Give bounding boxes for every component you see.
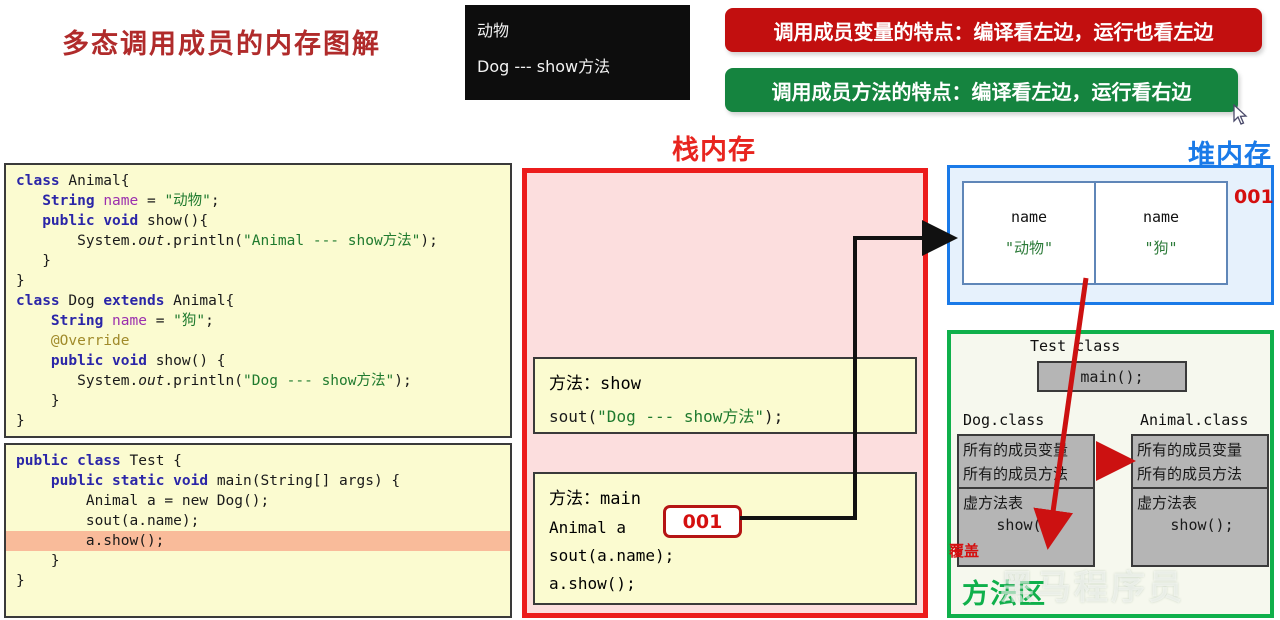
test-class-main-method: main(); xyxy=(1037,361,1187,392)
heap-field-value: "动物" xyxy=(1005,237,1053,258)
code-line: String name = "动物"; xyxy=(6,191,510,211)
page-title: 多态调用成员的内存图解 xyxy=(62,22,381,61)
animal-class-row: 所有的成员方法 xyxy=(1133,460,1267,484)
console-line-1: 动物 xyxy=(477,17,690,41)
code-line: class Dog extends Animal{ xyxy=(6,291,510,311)
dog-class-vtable-method: show(); xyxy=(959,513,1093,534)
code-line: public void show(){ xyxy=(6,211,510,231)
code-line: System.out.println("Animal --- show方法"); xyxy=(6,231,510,251)
stack-frame-show: 方法：show sout("Dog --- show方法"); xyxy=(533,357,917,434)
override-annotation: 覆盖 xyxy=(949,540,979,561)
stack-memory-heading: 栈内存 xyxy=(672,128,756,167)
console-output-panel: 动物 Dog --- show方法 xyxy=(465,5,690,100)
banner-member-method-rule: 调用成员方法的特点：编译看左边，运行看右边 xyxy=(725,68,1238,112)
code-line: public void show() { xyxy=(6,351,510,371)
stack-frame-show-title: 方法：show xyxy=(549,369,915,394)
test-class-title: Test class xyxy=(1030,337,1120,355)
mouse-cursor xyxy=(1233,104,1249,126)
code-line: sout(a.name); xyxy=(6,511,510,531)
dog-class-vtable-label: 虚方法表 xyxy=(959,487,1093,513)
animal-class-title: Animal.class xyxy=(1140,411,1248,429)
animal-class-box: 所有的成员变量 所有的成员方法 虚方法表 show(); xyxy=(1131,434,1269,567)
heap-field-name-label: name xyxy=(1011,208,1047,226)
code-line: class Animal{ xyxy=(6,171,510,191)
code-line: @Override xyxy=(6,331,510,351)
stack-frame-main: 方法：main Animal a sout(a.name); a.show(); xyxy=(533,472,917,605)
code-line: } xyxy=(6,271,510,291)
dog-class-row: 所有的成员方法 xyxy=(959,460,1093,484)
code-line: Animal a = new Dog(); xyxy=(6,491,510,511)
animal-class-vtable-label: 虚方法表 xyxy=(1133,487,1267,513)
heap-object: name "动物" name "狗" xyxy=(962,181,1228,285)
console-line-2: Dog --- show方法 xyxy=(477,53,690,77)
stack-frame-show-body: sout("Dog --- show方法"); xyxy=(549,403,915,427)
code-line: } xyxy=(6,571,510,591)
code-line: String name = "狗"; xyxy=(6,311,510,331)
code-line: } xyxy=(6,391,510,411)
banner-member-variable-rule: 调用成员变量的特点：编译看左边，运行也看左边 xyxy=(725,8,1262,52)
watermark: 黑马程序员 xyxy=(1000,560,1185,609)
animal-class-row: 所有的成员变量 xyxy=(1133,436,1267,460)
code-line-highlighted: a.show(); xyxy=(6,531,510,551)
stack-frame-main-line3: a.show(); xyxy=(549,574,915,593)
dog-class-row: 所有的成员变量 xyxy=(959,436,1093,460)
dog-class-title: Dog.class xyxy=(963,411,1044,429)
heap-field-value: "狗" xyxy=(1144,237,1177,258)
code-line: System.out.println("Dog --- show方法"); xyxy=(6,371,510,391)
heap-field-name-label: name xyxy=(1143,208,1179,226)
stack-address-badge: 001 xyxy=(663,505,742,538)
code-line: } xyxy=(6,411,510,431)
heap-address-label: 001 xyxy=(1234,186,1274,208)
code-line: public class Test { xyxy=(6,451,510,471)
code-block-classes: class Animal{ String name = "动物"; public… xyxy=(4,163,512,438)
stack-frame-main-line2: sout(a.name); xyxy=(549,546,915,565)
heap-field-animal: name "动物" xyxy=(964,183,1094,283)
code-block-test: public class Test { public static void m… xyxy=(4,443,512,618)
code-line: } xyxy=(6,551,510,571)
code-line: public static void main(String[] args) { xyxy=(6,471,510,491)
animal-class-vtable-method: show(); xyxy=(1133,513,1267,534)
heap-field-dog: name "狗" xyxy=(1094,183,1226,283)
code-line: } xyxy=(6,251,510,271)
